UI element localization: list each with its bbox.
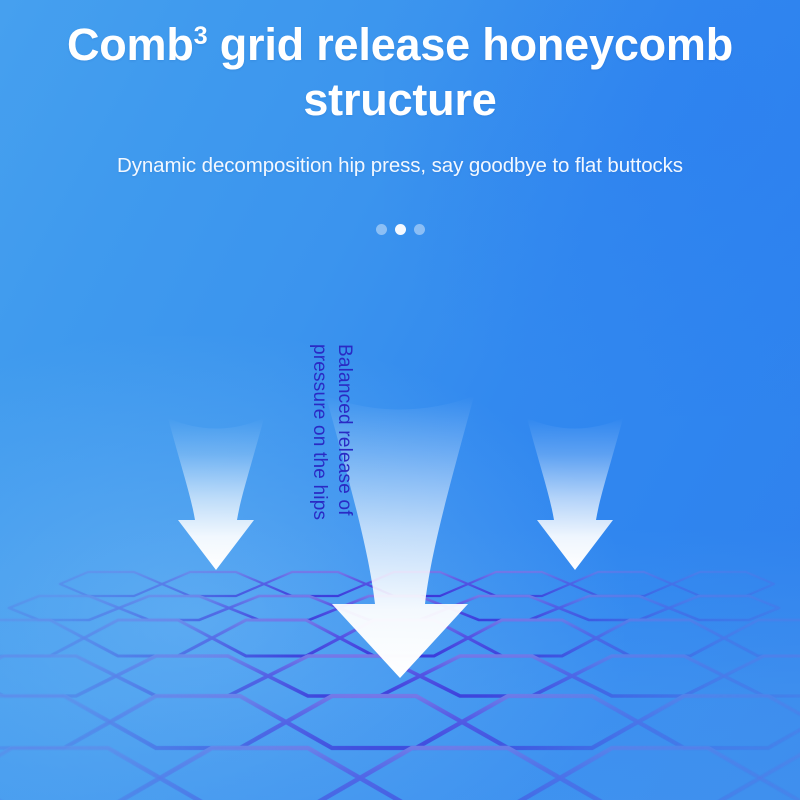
page-title: Comb3 grid release honeycomb structure bbox=[0, 0, 800, 128]
title-rest: grid release honeycomb structure bbox=[207, 19, 733, 125]
header: Comb3 grid release honeycomb structure D… bbox=[0, 0, 800, 178]
pressure-caption: Balanced release of pressure on the hips bbox=[307, 344, 357, 604]
pressure-caption-line-2: pressure on the hips bbox=[307, 344, 332, 604]
pager-dot-2[interactable] bbox=[395, 224, 406, 235]
pager-dot-1[interactable] bbox=[376, 224, 387, 235]
right-pressure-arrow bbox=[527, 418, 623, 570]
left-pressure-arrow bbox=[168, 418, 264, 570]
title-superscript: 3 bbox=[194, 22, 208, 50]
product-feature-slide: Balanced release of pressure on the hips… bbox=[0, 0, 800, 800]
pager-dots[interactable] bbox=[0, 224, 800, 235]
pressure-caption-line-1: Balanced release of bbox=[332, 344, 357, 604]
pager-dot-3[interactable] bbox=[414, 224, 425, 235]
page-subtitle: Dynamic decomposition hip press, say goo… bbox=[0, 154, 800, 178]
title-prefix: Comb bbox=[67, 19, 194, 70]
